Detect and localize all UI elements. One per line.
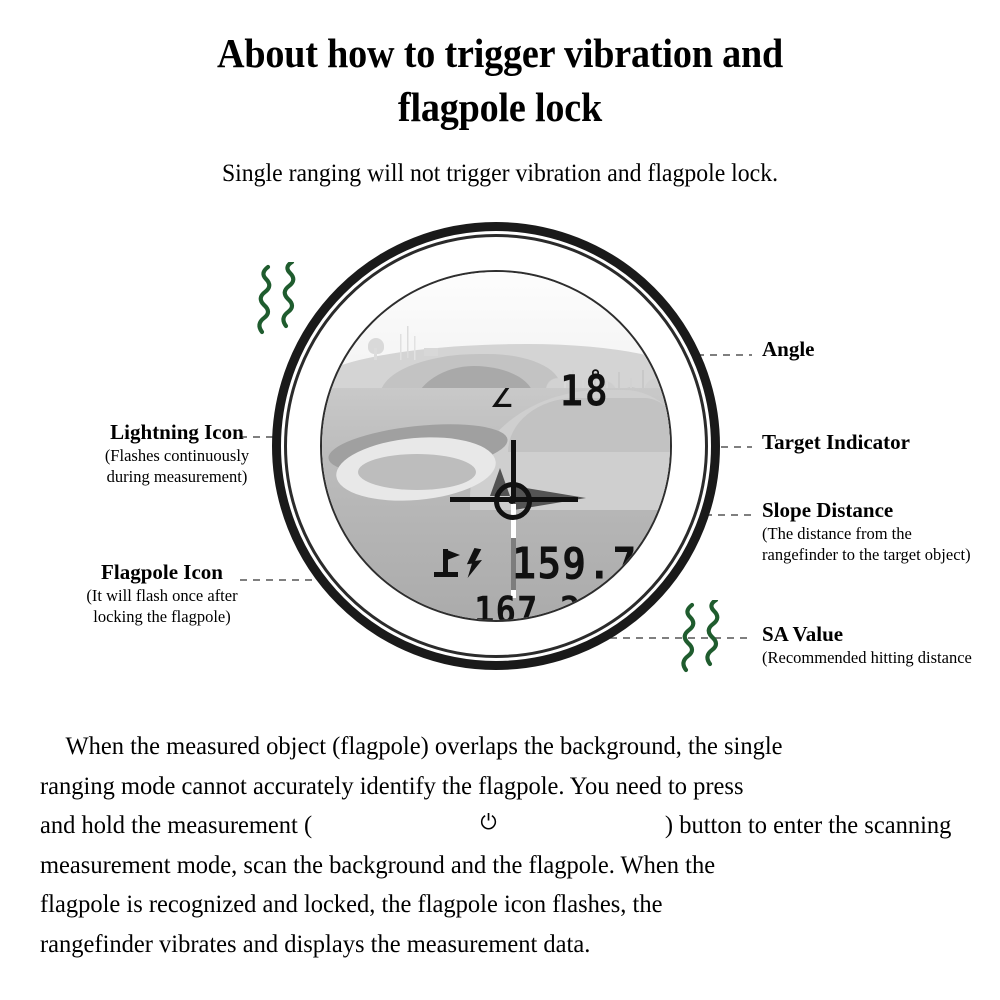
- callout-slope-distance: Slope Distance (The distance from the ra…: [762, 498, 988, 565]
- callout-lightning-label: Lightning Icon: [62, 420, 292, 445]
- body-line-3b: ) button to enter the scanning: [665, 806, 951, 846]
- body-line-2: ranging mode cannot accurately identify …: [40, 767, 951, 807]
- vibration-wave-right-icon: [676, 600, 740, 676]
- callout-angle-label: Angle: [762, 337, 815, 362]
- degree-symbol-icon: °: [590, 367, 601, 392]
- callout-sa-value: SA Value (Recommended hitting distance: [762, 622, 988, 668]
- crosshair-center-dot: [508, 496, 516, 504]
- angle-symbol-icon: ∠: [490, 386, 513, 412]
- flagpole-icon-banner: [447, 550, 460, 560]
- callout-angle: Angle: [762, 337, 815, 362]
- lightning-bolt-icon: [464, 548, 482, 578]
- callout-lightning-note-1: (Flashes continuously: [62, 445, 292, 466]
- callout-flagpole-label: Flagpole Icon: [32, 560, 292, 585]
- callout-lightning-note-2: during measurement): [62, 466, 292, 487]
- slope-distance-value: 159.7: [512, 542, 637, 586]
- body-line-5: flagpole is recognized and locked, the f…: [40, 885, 951, 925]
- body-paragraph: When the measured object (flagpole) over…: [40, 727, 951, 964]
- callout-lightning-icon: Lightning Icon (Flashes continuously dur…: [62, 420, 292, 487]
- body-line-6: rangefinder vibrates and displays the me…: [40, 925, 951, 965]
- body-line-4: measurement mode, scan the background an…: [40, 846, 951, 886]
- callout-slope-note: (The distance from the rangefinder to th…: [762, 523, 988, 565]
- body-line-3: and hold the measurement ( ⏻ ) button to…: [40, 806, 951, 846]
- distance-unit-label: Y: [587, 604, 601, 622]
- callout-target-indicator: Target Indicator: [762, 430, 910, 455]
- optic-viewfinder: ∠ 18 ° 159.7 167.2: [320, 270, 672, 622]
- body-line-3a: and hold the measurement (: [40, 806, 312, 846]
- flagpole-icon-base: [434, 572, 458, 577]
- sa-value: 167.2: [474, 592, 581, 622]
- page-root: About how to trigger vibration and flagp…: [0, 0, 1000, 1000]
- callout-sa-note: (Recommended hitting distance: [762, 647, 988, 668]
- callout-sa-label: SA Value: [762, 622, 988, 647]
- body-line-1: When the measured object (flagpole) over…: [40, 727, 951, 767]
- rangefinder-optic: ∠ 18 ° 159.7 167.2: [272, 222, 720, 670]
- callout-flagpole-note-2: locking the flagpole): [32, 606, 292, 627]
- callout-flagpole-note-1: (It will flash once after: [32, 585, 292, 606]
- callout-target-label: Target Indicator: [762, 430, 910, 455]
- vibration-wave-left-icon: [252, 262, 316, 338]
- callout-slope-label: Slope Distance: [762, 498, 988, 523]
- flagpole-icon: [434, 549, 460, 577]
- callout-flagpole-icon: Flagpole Icon (It will flash once after …: [32, 560, 292, 627]
- angle-value: 18: [560, 370, 610, 413]
- power-button-icon: ⏻: [480, 806, 496, 846]
- lcd-overlay: ∠ 18 ° 159.7 167.2: [322, 272, 672, 622]
